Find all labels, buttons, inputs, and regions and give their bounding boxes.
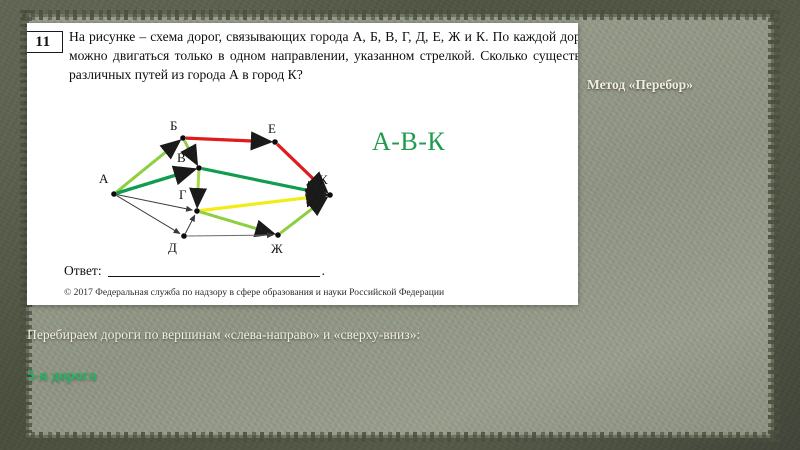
vertex-label-zh: Ж — [271, 241, 283, 256]
edge-zh-k — [280, 198, 326, 233]
edge-b-v — [184, 141, 196, 164]
exam-task-card: 11 На рисунке – схема дорог, связывающих… — [27, 23, 578, 305]
highlighted-path-label: А-В-К — [372, 127, 445, 157]
vertex-label-b: Б — [170, 118, 177, 133]
slide-root: Метод «Перебор» 11 На рисунке – схема до… — [0, 0, 800, 450]
edge-g-k — [200, 196, 325, 211]
edge-d-g — [185, 215, 194, 233]
vertex-label-d: Д — [168, 240, 177, 255]
vertex-dot-v — [196, 165, 202, 171]
vertex-label-v: В — [177, 150, 186, 165]
vertex-label-a: А — [99, 171, 109, 186]
vertex-label-e: Е — [268, 121, 276, 136]
edge-g-zh — [200, 212, 273, 234]
answer-label: Ответ: — [64, 263, 102, 278]
road-counter-label: 5-я дорога — [27, 368, 97, 385]
vertex-dot-g — [194, 208, 200, 214]
vertex-dot-zh — [275, 232, 281, 238]
method-title: Метод «Перебор» — [587, 77, 693, 93]
answer-row: Ответ:. — [64, 263, 325, 279]
answer-period: . — [322, 263, 325, 278]
vertex-dot-b — [180, 135, 186, 141]
edge-layer — [116, 138, 326, 236]
edge-b-e — [186, 138, 270, 142]
vertex-label-k: К — [319, 172, 328, 187]
vertex-dot-d — [181, 233, 187, 239]
edge-d-zh — [187, 235, 273, 236]
answer-input-blank[interactable] — [108, 264, 320, 277]
copyright-notice: © 2017 Федеральная служба по надзору в с… — [64, 287, 444, 298]
vertex-label-g: Г — [179, 187, 187, 202]
vertex-dot-a — [111, 191, 117, 197]
vertex-dot-k — [327, 192, 333, 198]
vertex-dot-e — [272, 139, 278, 145]
edge-v-g — [197, 171, 199, 206]
enumeration-note: Перебираем дороги по вершинам «слева-нап… — [27, 327, 420, 343]
node-layer — [111, 135, 333, 239]
